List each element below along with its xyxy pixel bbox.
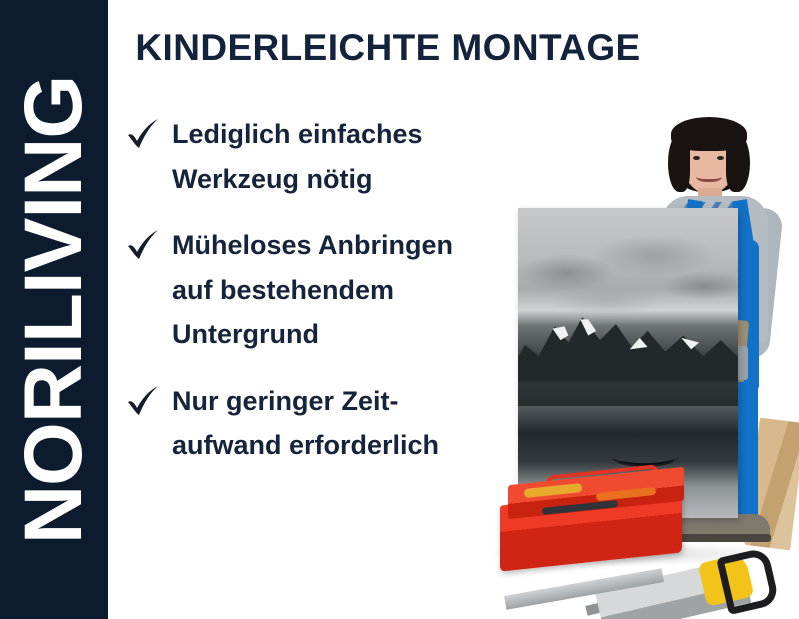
brand-sidebar: NORILIVING [0, 0, 108, 619]
feature-list: Lediglich einfaches Werkzeug nötig Mühel… [124, 112, 524, 468]
list-item: Müheloses Anbringen auf bestehendem Unte… [124, 223, 524, 357]
worker-eye-left [693, 156, 700, 160]
worker-hair-right [726, 134, 750, 192]
worker-eye-right [717, 156, 724, 160]
checkmark-icon [124, 114, 164, 154]
list-item: Nur geringer Zeit- aufwand erforderlich [124, 379, 524, 468]
panel-water-reflection [518, 406, 738, 437]
page-title: KINDERLEICHTE MONTAGE [108, 28, 668, 69]
worker-smile [696, 169, 722, 182]
panel-mountain-ridge [518, 301, 738, 382]
red-toolbox [500, 470, 686, 562]
checkmark-icon [124, 381, 164, 421]
brand-logo-text: NORILIVING [13, 75, 95, 543]
product-photo [470, 90, 799, 619]
list-item: Lediglich einfaches Werkzeug nötig [124, 112, 524, 201]
promo-banner: NORILIVING KINDERLEICHTE MONTAGE Ledigli… [0, 0, 799, 619]
checkmark-icon [124, 225, 164, 265]
worker-hair-left [668, 134, 690, 192]
